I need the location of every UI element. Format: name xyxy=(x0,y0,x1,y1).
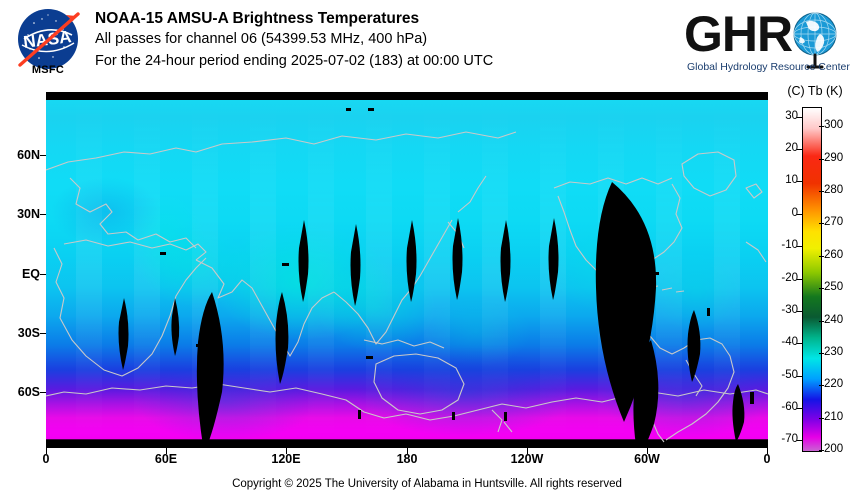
colorbar-celsius-label: 0 xyxy=(772,207,798,219)
page-subtitle-channel: All passes for channel 06 (54399.53 MHz,… xyxy=(95,28,493,50)
ghrc-tagline: Global Hydrology Resource Center xyxy=(687,61,850,73)
colorbar-celsius-label: 10 xyxy=(772,174,798,186)
colorbar-kelvin-label: 230 xyxy=(824,346,854,358)
ghrc-logo: GHR Global Hydrology Resource Center xyxy=(682,4,850,78)
y-tick xyxy=(40,214,46,215)
colorbar-celsius-label: -60 xyxy=(772,401,798,413)
colorbar-tick xyxy=(819,418,824,419)
x-axis-label-360: 0 xyxy=(737,452,797,466)
colorbar-tick xyxy=(819,288,824,289)
map-plot-area[interactable] xyxy=(46,92,768,448)
colorbar-tick xyxy=(797,214,802,215)
colorbar-kelvin-label: 210 xyxy=(824,411,854,423)
colorbar-celsius-label: -10 xyxy=(772,239,798,251)
colorbar-kelvin-label: 280 xyxy=(824,184,854,196)
y-axis-label-30N: 30N xyxy=(0,207,40,221)
colorbar-celsius-label: -50 xyxy=(772,369,798,381)
colorbar-tick xyxy=(819,321,824,322)
colorbar-tick xyxy=(819,353,824,354)
colorbar-kelvin-label: 270 xyxy=(824,216,854,228)
colorbar-tick xyxy=(797,181,802,182)
title-block: NOAA-15 AMSU-A Brightness Temperatures A… xyxy=(95,9,493,72)
colorbar-kelvin-label: 220 xyxy=(824,378,854,390)
nasa-center-label: MSFC xyxy=(8,64,88,76)
colorbar-kelvin-label: 260 xyxy=(824,249,854,261)
x-axis-label-60E: 60E xyxy=(136,452,196,466)
colorbar-tick xyxy=(797,376,802,377)
colorbar-tick xyxy=(819,159,824,160)
colorbar-tick xyxy=(797,117,802,118)
page-subtitle-period: For the 24-hour period ending 2025-07-02… xyxy=(95,50,493,72)
colorbar-celsius-label: 30 xyxy=(772,110,798,122)
colorbar-tick xyxy=(797,149,802,150)
colorbar-kelvin-label: 250 xyxy=(824,281,854,293)
colorbar-tick xyxy=(819,256,824,257)
y-tick xyxy=(40,392,46,393)
colorbar-tick xyxy=(819,126,824,127)
colorbar-kelvin-label: 200 xyxy=(824,443,854,455)
colorbar-tick xyxy=(819,450,824,451)
colorbar-tick xyxy=(819,223,824,224)
header: NASA MSFC NOAA-15 AMSU-A Brightness Temp… xyxy=(0,0,854,88)
page-title: NOAA-15 AMSU-A Brightness Temperatures xyxy=(95,9,493,28)
brightness-temperature-map[interactable] xyxy=(46,92,768,448)
y-axis-label-EQ: EQ xyxy=(0,267,40,281)
x-axis-label-120E: 120E xyxy=(256,452,316,466)
svg-text:GHR: GHR xyxy=(684,6,793,62)
colorbar-tick xyxy=(797,440,802,441)
colorbar-tick xyxy=(797,246,802,247)
colorbar-kelvin-label: 290 xyxy=(824,152,854,164)
colorbar-celsius-label: 20 xyxy=(772,142,798,154)
colorbar-celsius-label: -30 xyxy=(772,304,798,316)
x-axis-label-0: 0 xyxy=(16,452,76,466)
globe-icon xyxy=(794,13,836,67)
colorbar-tick xyxy=(797,408,802,409)
y-axis-label-60N: 60N xyxy=(0,148,40,162)
y-tick xyxy=(40,274,46,275)
colorbar-celsius-label: -40 xyxy=(772,336,798,348)
y-tick xyxy=(40,155,46,156)
colorbar-celsius-label: -20 xyxy=(772,272,798,284)
colorbar-kelvin-label: 300 xyxy=(824,119,854,131)
y-axis-label-30S: 30S xyxy=(0,326,40,340)
colorbar-tick xyxy=(797,343,802,344)
colorbar-tick xyxy=(797,311,802,312)
x-axis-label-120W: 120W xyxy=(497,452,557,466)
x-axis-label-180: 180 xyxy=(377,452,437,466)
colorbar-tick xyxy=(797,279,802,280)
x-axis-label-60W: 60W xyxy=(617,452,677,466)
colorbar-celsius-label: -70 xyxy=(772,433,798,445)
colorbar-title: (C) Tb (K) xyxy=(776,84,854,98)
copyright-notice: Copyright © 2025 The University of Alaba… xyxy=(0,478,854,490)
colorbar-kelvin-label: 240 xyxy=(824,314,854,326)
colorbar-tick xyxy=(819,191,824,192)
colorbar-tick xyxy=(819,385,824,386)
y-tick xyxy=(40,333,46,334)
y-axis-label-60S: 60S xyxy=(0,385,40,399)
